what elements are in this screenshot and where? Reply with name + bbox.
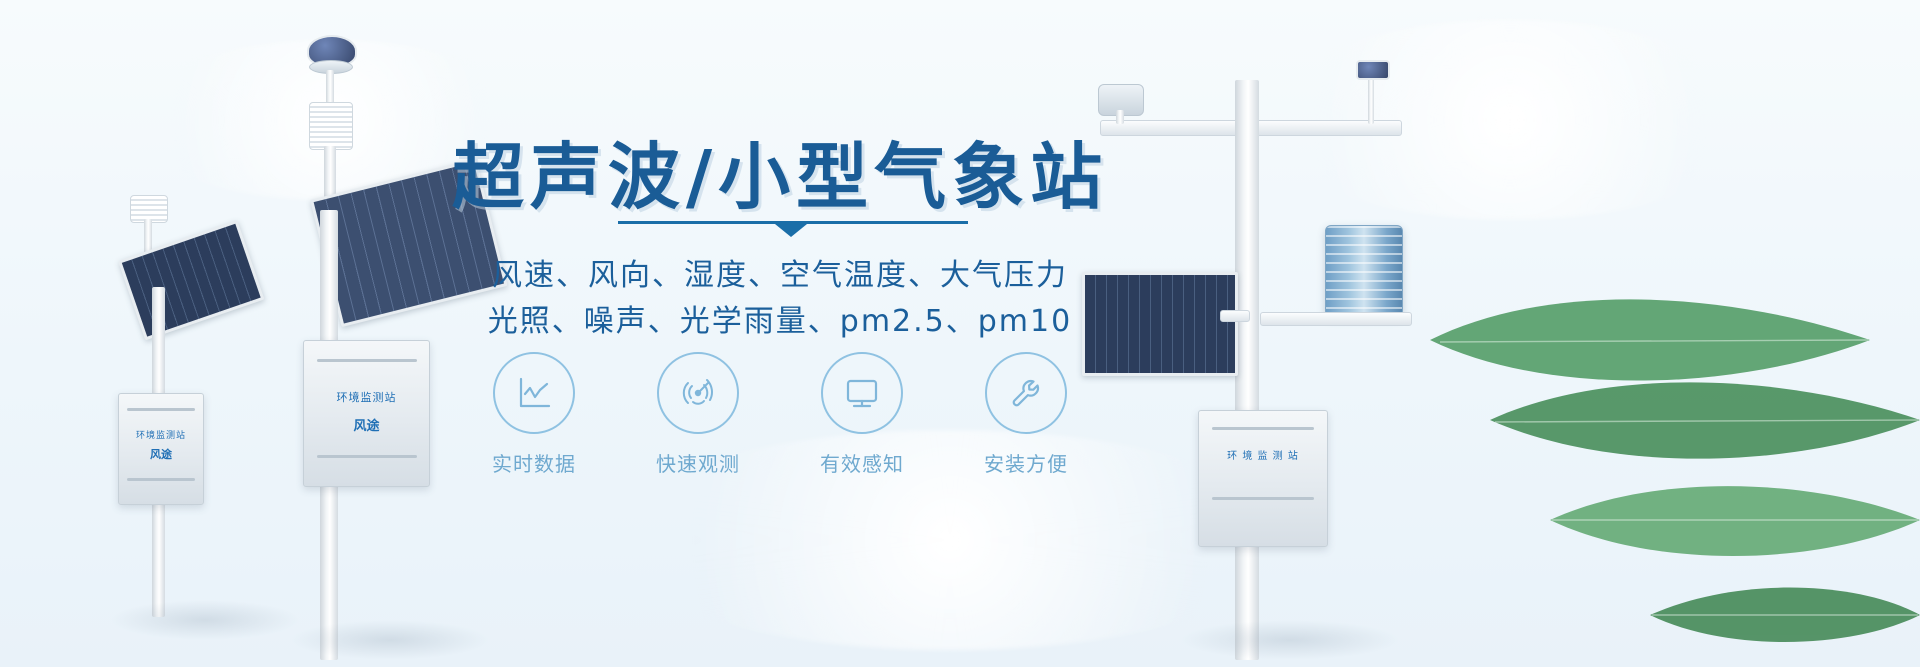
feature-list: 实时数据 快速观测 [430,352,1130,477]
feature-item-fast-observation[interactable]: 快速观测 [634,352,762,477]
monitor-icon [821,352,903,434]
feature-label: 有效感知 [820,448,904,477]
banner-content: 超声波/小型气象站 风速、风向、湿度、空气温度、大气压力 光照、噪声、光学雨量、… [0,0,1920,667]
ground-shadow [110,600,300,640]
wrench-icon [985,352,1067,434]
page-title: 超声波/小型气象站 [430,118,1130,223]
feature-label: 快速观测 [656,448,740,477]
ground-shadow [1180,620,1400,660]
subtitle-line-1: 风速、风向、湿度、空气温度、大气压力 [430,250,1130,294]
line-chart-icon [493,352,575,434]
divider-triangle-icon [775,224,807,237]
feature-item-effective-sensing[interactable]: 有效感知 [798,352,926,477]
product-banner: 环境监测站 风途 环境监测站 风途 [0,0,1920,667]
feature-item-realtime-data[interactable]: 实时数据 [470,352,598,477]
feature-label: 安装方便 [984,448,1068,477]
subtitle-line-2: 光照、噪声、光学雨量、pm2.5、pm10 [430,296,1130,340]
radar-signal-icon [657,352,739,434]
feature-item-easy-install[interactable]: 安装方便 [962,352,1090,477]
feature-label: 实时数据 [492,448,576,477]
ground-shadow [290,620,490,660]
